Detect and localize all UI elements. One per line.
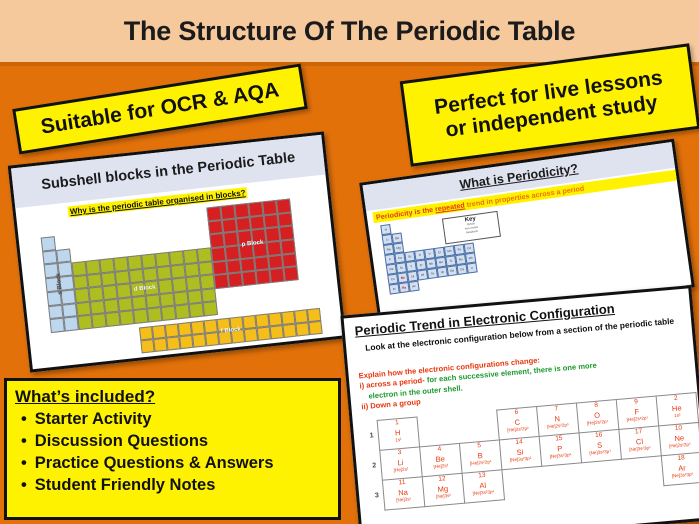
element-cell: 5 B [He]2s²2p¹ — [459, 440, 501, 473]
element-cell: 3 Li [He]2s¹ — [379, 447, 421, 480]
element-cell: 7 N [He]2s²2p³ — [536, 403, 578, 436]
element-cell: 9 F [He]2s²2p⁵ — [616, 396, 658, 429]
card-title-subshell: Subshell blocks in the Periodic Table — [41, 150, 296, 193]
element-cell: 2 He 1s² — [656, 393, 698, 426]
element-cell: 6 C [He]2s²2p² — [496, 407, 538, 440]
key-legend-item: Metalloids — [466, 230, 478, 235]
element-cell-empty — [581, 459, 623, 492]
element-cell: 12 Mg [Ne]3s² — [422, 473, 464, 506]
element-cell: 16 S [Ne]3s²3p⁴ — [579, 429, 621, 462]
element-cell: 15 P [Ne]3s²3p³ — [539, 433, 581, 466]
element-cell-empty — [416, 414, 458, 447]
element-cell-empty — [456, 410, 498, 443]
page-title: The Structure Of The Periodic Table — [124, 16, 576, 47]
element-cell: 14 Si [Ne]3s²3p² — [499, 436, 541, 469]
element-cell: 10 Ne [He]2s²2p⁶ — [658, 423, 699, 456]
d-block-group: d Block — [72, 247, 219, 330]
element-cell-empty — [501, 466, 543, 499]
p-block-group: p Block — [206, 198, 298, 289]
element-cell: 1 H 1s¹ — [377, 417, 419, 450]
whats-included-box: What’s included? Starter Activity Discus… — [4, 378, 341, 520]
list-item: Discussion Questions — [15, 431, 330, 453]
whats-included-heading: What’s included? — [15, 387, 330, 407]
element-cell-empty — [541, 463, 583, 496]
electronic-configuration-table: 1 1 H 1s¹ 6 C [He]2s²2p² 7 N [He]2s²2p³ — [365, 392, 699, 512]
title-banner: The Structure Of The Periodic Table — [0, 0, 699, 62]
list-item: Starter Activity — [15, 409, 330, 431]
element-cell-empty — [621, 456, 663, 489]
element-cell: 17 Cl [Ne]3s²3p⁵ — [618, 426, 660, 459]
badge-left-label: Suitable for OCR & AQA — [39, 78, 281, 139]
definition-emphasis: repeated — [434, 200, 465, 213]
element-cell: 18 Ar [Ne]3s²3p⁶ — [661, 452, 699, 485]
slide-card-subshell-blocks[interactable]: Subshell blocks in the Periodic Table Wh… — [8, 131, 347, 372]
element-cell: 8 O [He]2s²2p⁴ — [576, 400, 618, 433]
whats-included-list: Starter Activity Discussion Questions Pr… — [15, 409, 330, 497]
element-cell: 4 Be [He]2s² — [419, 443, 461, 476]
subshell-block-diagram: s Block d Block — [17, 190, 343, 372]
slide-preview: The Structure Of The Periodic Table Subs… — [0, 0, 699, 524]
list-item: Practice Questions & Answers — [15, 453, 330, 475]
list-item: Student Friendly Notes — [15, 475, 330, 497]
element-cell: 11 Na [Ne]3s¹ — [382, 477, 424, 510]
slide-card-electronic-configuration[interactable]: Periodic Trend in Electronic Configurati… — [340, 285, 699, 524]
element-cell: 13 Al [Ne]3s²3p¹ — [462, 470, 504, 503]
